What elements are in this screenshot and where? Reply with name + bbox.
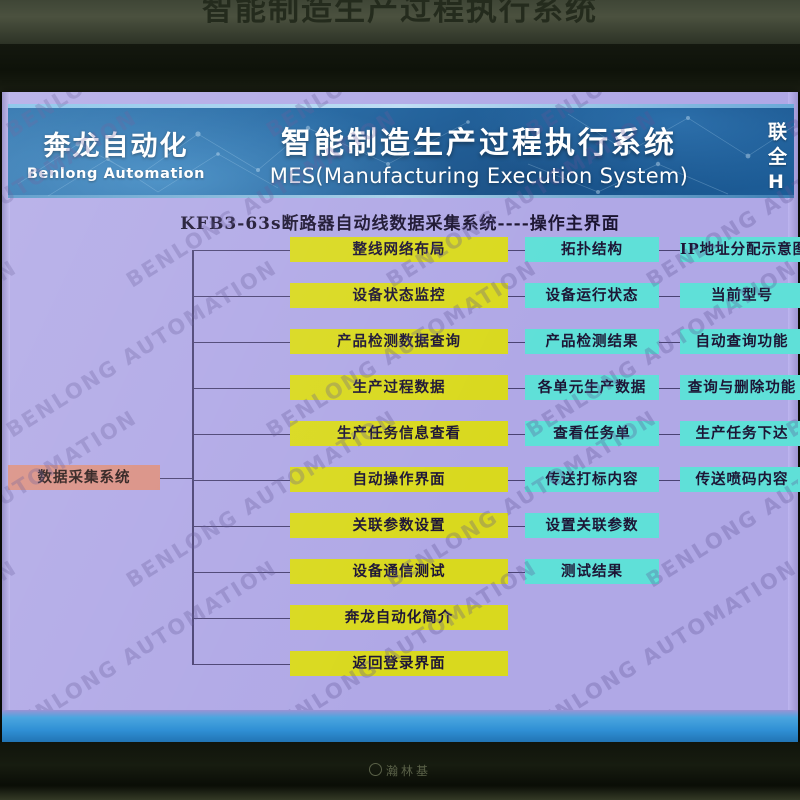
wire-l2-l3-4 — [659, 388, 680, 390]
wire-root-stub — [160, 478, 192, 480]
detail-item-3-1[interactable]: 自动查询功能 — [680, 329, 800, 354]
menu-item-8[interactable]: 设备通信测试 — [290, 559, 508, 584]
wire-l1-l2-7 — [508, 526, 525, 528]
detail-item-5-1[interactable]: 生产任务下达 — [680, 421, 800, 446]
menu-item-4[interactable]: 生产过程数据 — [290, 375, 508, 400]
submenu-item-6-1[interactable]: 传送打标内容 — [525, 467, 659, 492]
wire-l1-l2-3 — [508, 342, 525, 344]
header-right-line1: 联 — [768, 120, 794, 145]
submenu-item-5-1[interactable]: 查看任务单 — [525, 421, 659, 446]
monitor-brand-logo: 瀚林基 — [0, 762, 800, 779]
header-right-line3: H — [768, 170, 794, 195]
wire-l2-l3-6 — [659, 480, 680, 482]
submenu-item-3-1[interactable]: 产品检测结果 — [525, 329, 659, 354]
system-title-block: 智能制造生产过程执行系统 MES(Manufacturing Execution… — [244, 118, 714, 188]
menu-tree-diagram: 数据采集系统整线网络布局拓扑结构IP地址分配示意图设备状态监控设备运行状态当前型… — [2, 224, 798, 734]
monitor-logo-icon — [369, 763, 382, 776]
wire-branch-7 — [192, 526, 290, 528]
wire-l1-l2-5 — [508, 434, 525, 436]
detail-item-1-1[interactable]: IP地址分配示意图 — [680, 237, 800, 262]
menu-item-5[interactable]: 生产任务信息查看 — [290, 421, 508, 446]
screenshot-root: 智能制造生产过程执行系统 — [0, 0, 800, 800]
menu-item-3[interactable]: 产品检测数据查询 — [290, 329, 508, 354]
menu-item-7[interactable]: 关联参数设置 — [290, 513, 508, 538]
submenu-item-2-1[interactable]: 设备运行状态 — [525, 283, 659, 308]
wire-trunk — [192, 250, 194, 664]
detail-item-4-1[interactable]: 查询与删除功能 — [680, 375, 800, 400]
wire-l2-l3-1 — [659, 250, 680, 252]
detail-item-6-1[interactable]: 传送喷码内容 — [680, 467, 800, 492]
wire-branch-4 — [192, 388, 290, 390]
submenu-item-7-1[interactable]: 设置关联参数 — [525, 513, 659, 538]
wall-banner-text: 智能制造生产过程执行系统 — [0, 0, 800, 34]
menu-item-1[interactable]: 整线网络布局 — [290, 237, 508, 262]
brand-name-en: Benlong Automation — [16, 166, 216, 182]
wire-branch-3 — [192, 342, 290, 344]
wire-branch-10 — [192, 664, 290, 666]
monitor-bezel-top — [0, 44, 800, 92]
wire-branch-9 — [192, 618, 290, 620]
wire-l1-l2-4 — [508, 388, 525, 390]
wire-l1-l2-1 — [508, 250, 525, 252]
wire-l2-l3-3 — [659, 342, 680, 344]
header-right-text: 联 全 H — [768, 120, 794, 195]
menu-item-6[interactable]: 自动操作界面 — [290, 467, 508, 492]
node-root[interactable]: 数据采集系统 — [8, 465, 160, 490]
panel-bottom-strip — [2, 710, 798, 744]
wall-banner-top: 智能制造生产过程执行系统 — [0, 0, 800, 44]
wire-l2-l3-2 — [659, 296, 680, 298]
monitor-logo-text: 瀚林基 — [386, 764, 431, 778]
wire-l1-l2-8 — [508, 572, 525, 574]
app-header: 奔龙自动化 Benlong Automation 智能制造生产过程执行系统 ME… — [8, 104, 794, 198]
brand-name-cn: 奔龙自动化 — [16, 124, 216, 163]
screen-panel: 奔龙自动化 Benlong Automation 智能制造生产过程执行系统 ME… — [2, 92, 798, 744]
wire-l1-l2-2 — [508, 296, 525, 298]
system-title-en: MES(Manufacturing Execution System) — [244, 164, 714, 188]
header-right-line2: 全 — [768, 145, 794, 170]
wire-branch-6 — [192, 480, 290, 482]
detail-item-2-1[interactable]: 当前型号 — [680, 283, 800, 308]
wire-branch-8 — [192, 572, 290, 574]
wire-branch-1 — [192, 250, 290, 252]
system-title-cn: 智能制造生产过程执行系统 — [244, 118, 714, 162]
menu-item-2[interactable]: 设备状态监控 — [290, 283, 508, 308]
wire-l1-l2-6 — [508, 480, 525, 482]
submenu-item-8-1[interactable]: 测试结果 — [525, 559, 659, 584]
submenu-item-1-1[interactable]: 拓扑结构 — [525, 237, 659, 262]
wire-branch-5 — [192, 434, 290, 436]
wire-l2-l3-5 — [659, 434, 680, 436]
submenu-item-4-1[interactable]: 各单元生产数据 — [525, 375, 659, 400]
wire-branch-2 — [192, 296, 290, 298]
menu-item-9[interactable]: 奔龙自动化简介 — [290, 605, 508, 630]
brand-block: 奔龙自动化 Benlong Automation — [16, 124, 216, 182]
menu-item-10[interactable]: 返回登录界面 — [290, 651, 508, 676]
